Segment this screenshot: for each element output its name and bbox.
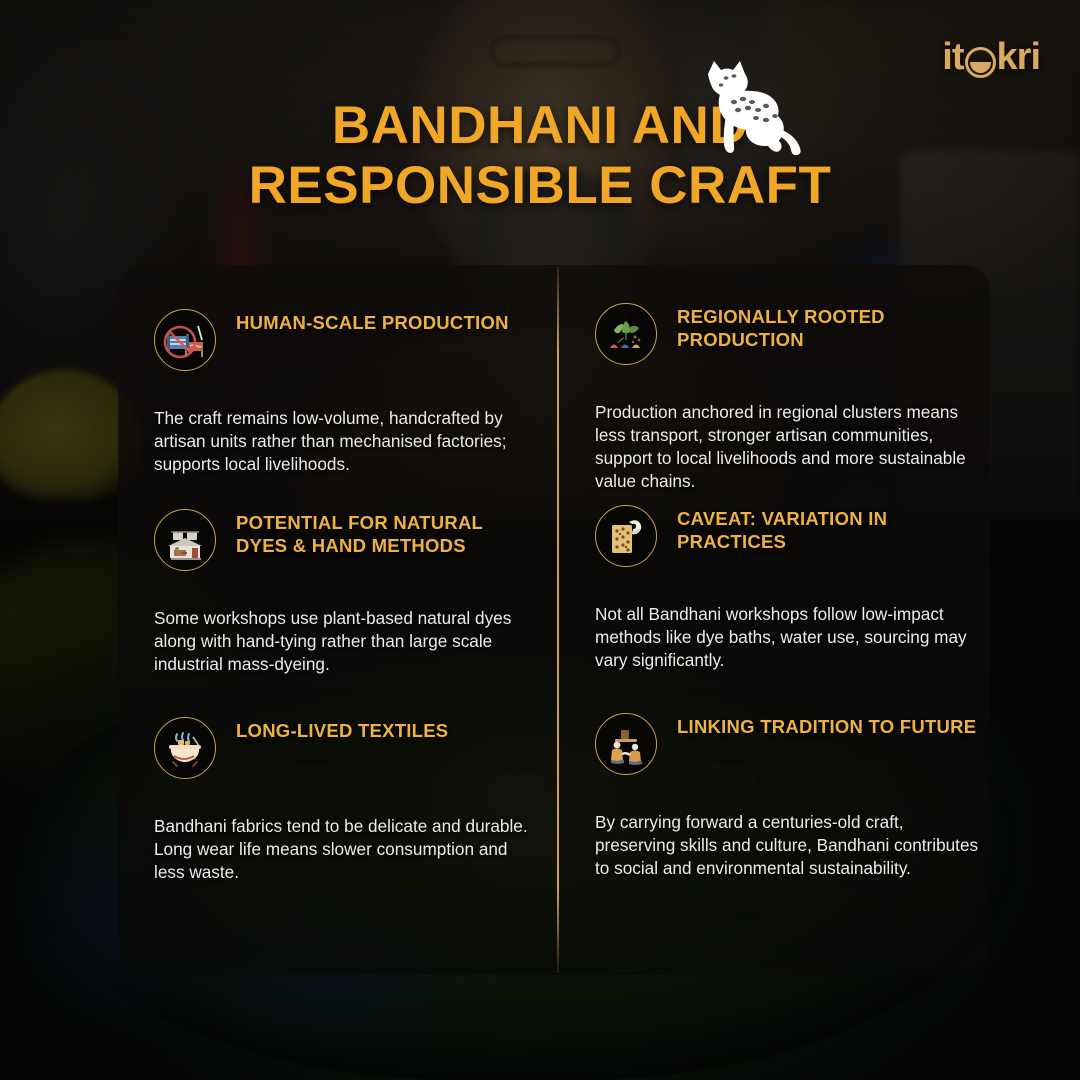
workshop-building-icon (154, 509, 216, 571)
item-body: By carrying forward a centuries-old craf… (559, 811, 998, 880)
item-header: CAVEAT: VARIATION IN PRACTICES (559, 505, 998, 581)
item-title: LONG-LIVED TEXTILES (236, 719, 536, 742)
item-title: HUMAN-SCALE PRODUCTION (236, 311, 536, 334)
logo-text-suffix: kri (997, 38, 1040, 76)
item-header: HUMAN-SCALE PRODUCTION (118, 309, 557, 385)
item-body: Bandhani fabrics tend to be delicate and… (118, 815, 557, 884)
list-item-linking-tradition-to-future: LINKING TRADITION TO FUTURE By carrying … (559, 713, 998, 880)
header: it kri BANDHANI AND RESPONSIBLE CRAFT (0, 0, 1080, 265)
list-item-long-lived-textiles: LONG-LIVED TEXTILES Bandhani fabrics ten… (118, 717, 557, 884)
item-title: CAVEAT: VARIATION IN PRACTICES (677, 507, 987, 554)
item-body: Not all Bandhani workshops follow low-im… (559, 603, 998, 672)
item-title: POTENTIAL FOR NATURAL DYES & HAND METHOD… (236, 511, 536, 558)
leaves-and-dye-powders-icon (595, 303, 657, 365)
item-body: The craft remains low-volume, handcrafte… (118, 407, 557, 476)
steaming-dye-pot-icon (154, 717, 216, 779)
list-item-caveat-variation-in-practices: CAVEAT: VARIATION IN PRACTICES Not all B… (559, 505, 998, 672)
item-body: Production anchored in regional clusters… (559, 401, 998, 493)
item-header: LONG-LIVED TEXTILES (118, 717, 557, 793)
left-column: HUMAN-SCALE PRODUCTION The craft remains… (118, 265, 557, 975)
two-seated-artisans-icon (595, 713, 657, 775)
logo-text-prefix: it (942, 38, 963, 76)
hand-holding-patterned-fabric-icon (595, 505, 657, 567)
logo-basket-icon (965, 47, 996, 78)
item-header: LINKING TRADITION TO FUTURE (559, 713, 998, 789)
no-factory-machine-icon (154, 309, 216, 371)
list-item-natural-dyes-hand-methods: POTENTIAL FOR NATURAL DYES & HAND METHOD… (118, 509, 557, 676)
item-header: POTENTIAL FOR NATURAL DYES & HAND METHOD… (118, 509, 557, 585)
list-item-human-scale-production: HUMAN-SCALE PRODUCTION The craft remains… (118, 309, 557, 476)
content-card: HUMAN-SCALE PRODUCTION The craft remains… (118, 265, 990, 975)
page-title: BANDHANI AND RESPONSIBLE CRAFT (0, 96, 1080, 217)
item-title: REGIONALLY ROOTED PRODUCTION (677, 305, 987, 352)
item-body: Some workshops use plant-based natural d… (118, 607, 557, 676)
list-item-regionally-rooted-production: REGIONALLY ROOTED PRODUCTION Production … (559, 303, 998, 493)
item-header: REGIONALLY ROOTED PRODUCTION (559, 303, 998, 379)
brand-logo[interactable]: it kri (942, 38, 1040, 76)
right-column: REGIONALLY ROOTED PRODUCTION Production … (559, 265, 998, 975)
item-title: LINKING TRADITION TO FUTURE (677, 715, 987, 738)
